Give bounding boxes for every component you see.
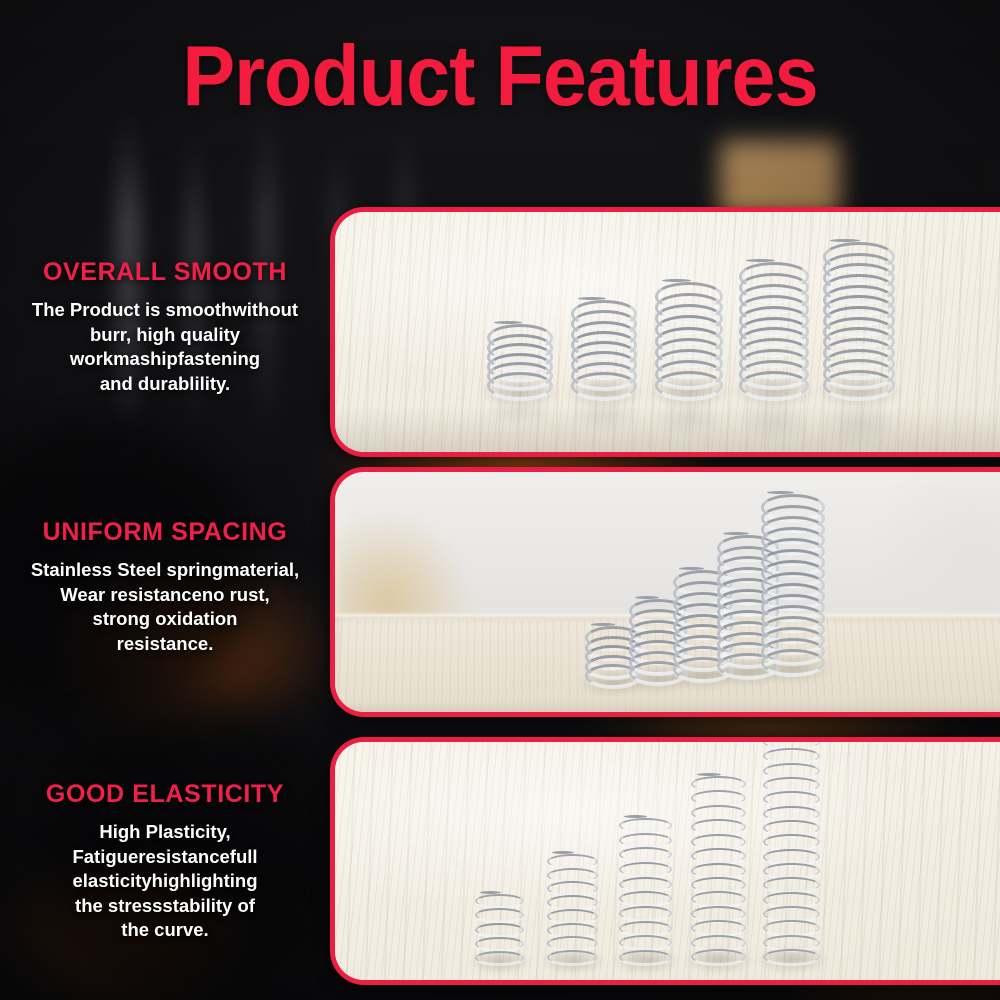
spring-end-tip [662, 279, 691, 282]
spring-end-tip [830, 239, 860, 242]
feature-heading: GOOD ELASTICITY [0, 780, 330, 809]
spring [475, 894, 525, 966]
spring [487, 324, 553, 400]
feature-body-line: elasticityhighlighting [22, 869, 308, 894]
feature-text-uniform-spacing: UNIFORM SPACING Stainless Steel springma… [0, 518, 330, 656]
spring-coil [691, 819, 746, 835]
feature-image-panel-good-elasticity [330, 737, 1000, 985]
feature-body-line: the curve. [22, 918, 308, 943]
spring-coil [691, 949, 746, 965]
spring [739, 262, 809, 400]
feature-body-line: Fatigueresistancefull [22, 845, 308, 870]
spring-coil [619, 847, 672, 862]
spring-reflection [739, 400, 809, 441]
spring-end-tip [624, 815, 647, 818]
spring-coil [475, 951, 524, 965]
spring-end-tip [591, 623, 615, 626]
spring-coil [547, 950, 598, 965]
spring-coil [763, 877, 820, 893]
spring-coil [763, 748, 820, 764]
feature-body-line: The Product is smoothwithout [22, 298, 308, 323]
spring-end-tip [635, 596, 659, 599]
feature-body-line: workmashipfastening [22, 347, 308, 372]
spring-coil [763, 949, 820, 965]
spring-coil [691, 891, 746, 907]
infographic-canvas: Product Features OVERALL SMOOTH The Prod… [0, 0, 1000, 1000]
spring [763, 742, 821, 966]
feature-body: High Plasticity, Fatigueresistancefull e… [0, 820, 330, 943]
feature-body-line: the stressstability of [22, 894, 308, 919]
spring-coil [619, 862, 672, 877]
spring-coil [655, 371, 723, 400]
spring-coil [763, 920, 820, 936]
spring-end-tip [697, 773, 721, 776]
spring-coil [487, 372, 553, 400]
spring [655, 282, 723, 400]
spring-coil [763, 791, 820, 807]
spring-end-tip [723, 532, 749, 535]
feature-text-good-elasticity: GOOD ELASTICITY High Plasticity, Fatigue… [0, 780, 330, 943]
spring-coil [475, 923, 524, 937]
feature-body-line: strong oxidation [22, 607, 308, 632]
spring-coil [823, 370, 895, 400]
spring-coil [619, 921, 672, 936]
spring [619, 818, 673, 966]
spring-coil [619, 818, 672, 833]
spring [691, 776, 747, 966]
spring-coil [619, 833, 672, 848]
spring-reflection [823, 400, 895, 447]
spring [761, 494, 825, 676]
spring-end-tip [494, 321, 522, 324]
spring-reflection [571, 400, 637, 430]
spring-end-tip [578, 297, 606, 300]
spring-coil [619, 950, 672, 965]
feature-body: The Product is smoothwithout burr, high … [0, 298, 330, 396]
spring-coil [475, 894, 524, 908]
feature-image-panel-uniform-spacing [330, 467, 1000, 717]
spring-end-tip [552, 851, 574, 854]
feature-heading: OVERALL SMOOTH [0, 258, 330, 287]
feature-body-line: High Plasticity, [22, 820, 308, 845]
spring-coil [547, 895, 598, 910]
spring-coil [475, 937, 524, 951]
spring-coil [571, 372, 637, 400]
spring-coil [691, 790, 746, 806]
feature-heading: UNIFORM SPACING [0, 518, 330, 547]
page-title: Product Features [35, 34, 965, 119]
spring-coil [547, 854, 598, 869]
spring-coil [619, 935, 672, 950]
spring [823, 242, 895, 400]
feature-body-line: Stainless Steel springmaterial, [22, 558, 308, 583]
spring-reflection [655, 400, 723, 435]
feature-image-panel-overall-smooth [330, 207, 1000, 457]
spring-coil [547, 881, 598, 896]
spring [547, 854, 599, 966]
spring-coil [619, 877, 672, 892]
spring-reflection [487, 400, 553, 423]
spring-end-tip [480, 891, 501, 894]
spring [571, 300, 637, 400]
feature-body-line: resistance. [22, 632, 308, 657]
spring-end-tip [679, 567, 704, 570]
feature-body: Stainless Steel springmaterial, Wear res… [0, 558, 330, 656]
spring-coil [547, 909, 598, 924]
spring-coil [763, 834, 820, 850]
spring-coil [739, 371, 809, 400]
spring-end-tip [746, 259, 775, 262]
spring-coil [475, 908, 524, 922]
feature-text-overall-smooth: OVERALL SMOOTH The Product is smoothwith… [0, 258, 330, 396]
spring-coil [619, 906, 672, 921]
feature-body-line: and durablility. [22, 372, 308, 397]
feature-body-line: Wear resistanceno rust, [22, 583, 308, 608]
spring-coil [547, 936, 598, 951]
spring-coil [619, 891, 672, 906]
spring-end-tip [767, 491, 794, 494]
spring-coil [691, 920, 746, 936]
spring-coil [691, 848, 746, 864]
spring-coil [761, 649, 825, 676]
feature-body-line: burr, high quality [22, 323, 308, 348]
